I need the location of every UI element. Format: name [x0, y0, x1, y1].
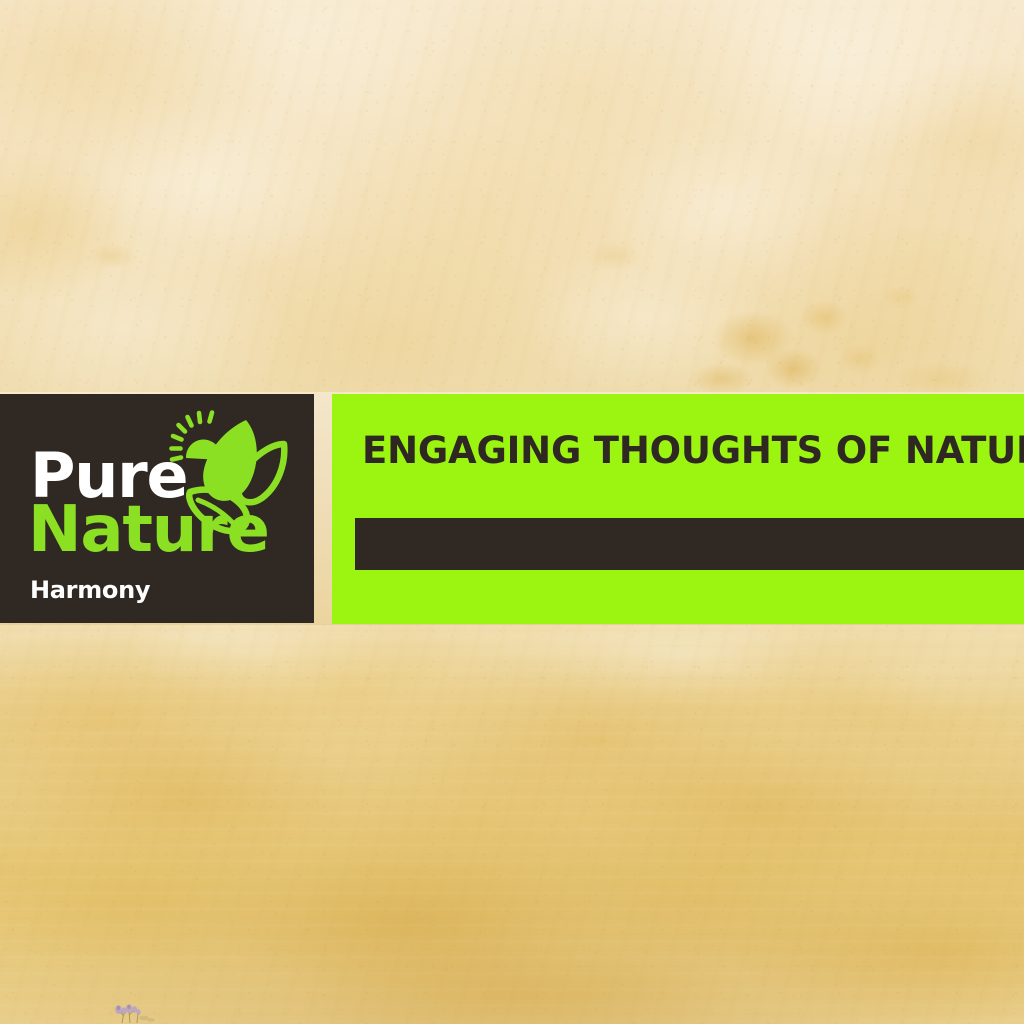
panel-banner-gap	[314, 394, 332, 624]
logo-wordmark: Pure Nature	[28, 450, 294, 558]
album-title: ENGAGING THOUGHTS OF NATURE	[362, 432, 1008, 469]
title-banner: ENGAGING THOUGHTS OF NATURE	[332, 394, 1024, 624]
logo-panel: Pure Nature Harmony	[0, 394, 314, 623]
purple-flower-sprig-icon	[108, 992, 162, 1024]
logo-panel-inner: Pure Nature Harmony	[0, 394, 314, 623]
logo-tagline: Harmony	[30, 576, 150, 604]
album-cover: Pure Nature Harmony ENGAGING THOUGHTS OF…	[0, 0, 1024, 1024]
dark-accent-bar	[355, 518, 1024, 570]
logo-word-nature: Nature	[28, 504, 294, 558]
